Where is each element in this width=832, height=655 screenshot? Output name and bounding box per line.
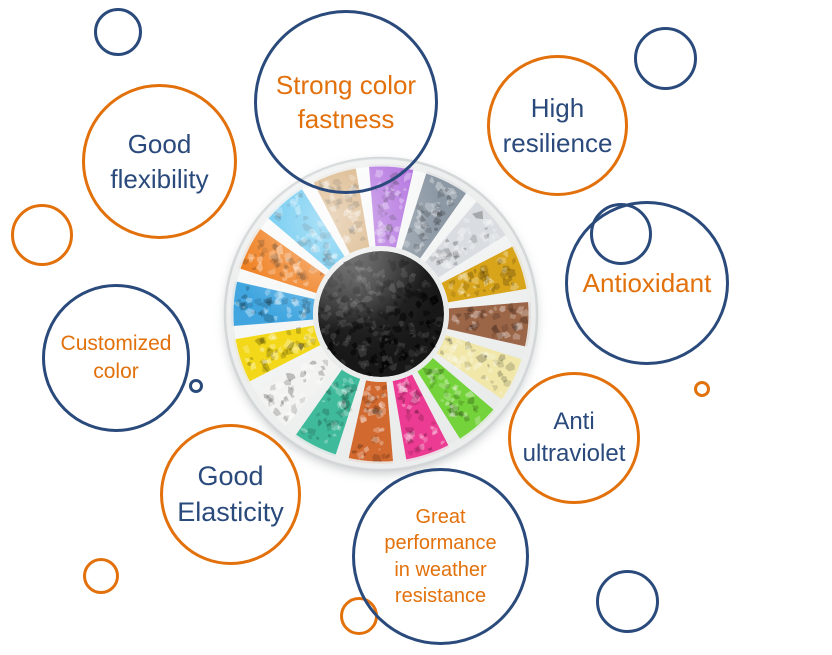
feature-bubble-label: ultraviolet [523,438,626,470]
feature-bubble-label: High [531,91,584,125]
feature-bubble-great-performance-weather-resistance[interactable]: Greatperformancein weatherresistance [352,468,529,645]
feature-bubble-high-resilience[interactable]: Highresilience [487,55,628,196]
feature-bubble-label: Good [128,127,192,161]
feature-bubble-label: fastness [298,102,395,136]
feature-bubble-label: Great [415,504,465,530]
feature-bubble-label: Good [197,459,263,495]
deco-bottom-right-navy [596,570,659,633]
feature-bubble-label: Strong color [276,68,416,102]
feature-bubble-label: Customized [61,330,172,358]
deco-top-left-navy [94,8,142,56]
deco-bottom-left-orange [83,558,119,594]
feature-bubble-good-elasticity[interactable]: GoodElasticity [160,424,301,565]
product-color-wheel-image [222,155,540,473]
feature-bubble-label: resistance [395,583,486,609]
feature-bubble-customized-color[interactable]: Customizedcolor [42,284,190,432]
feature-bubble-label: performance [384,530,496,556]
feature-bubble-label: Anti [553,406,594,438]
feature-bubble-anti-ultraviolet[interactable]: Antiultraviolet [508,372,640,504]
feature-bubble-label: resilience [503,126,613,160]
infographic-canvas: GoodflexibilityStrong colorfastnessHighr… [0,0,832,655]
feature-bubble-label: in weather [394,557,486,583]
deco-mid-left-navy-dot [189,379,203,393]
feature-bubble-antioxidant[interactable]: Antioxidant [565,201,729,365]
color-wheel-segments [222,155,540,473]
deco-left-orange [11,204,73,266]
feature-bubble-label: color [93,358,139,386]
feature-bubble-label: Elasticity [177,495,284,531]
deco-top-right-navy [634,27,697,90]
feature-bubble-good-flexibility[interactable]: Goodflexibility [82,84,237,239]
deco-mid-right-orange-dot [694,381,710,397]
feature-bubble-label: Antioxidant [583,266,712,300]
feature-bubble-strong-color-fastness[interactable]: Strong colorfastness [254,10,438,194]
feature-bubble-label: flexibility [110,162,208,196]
